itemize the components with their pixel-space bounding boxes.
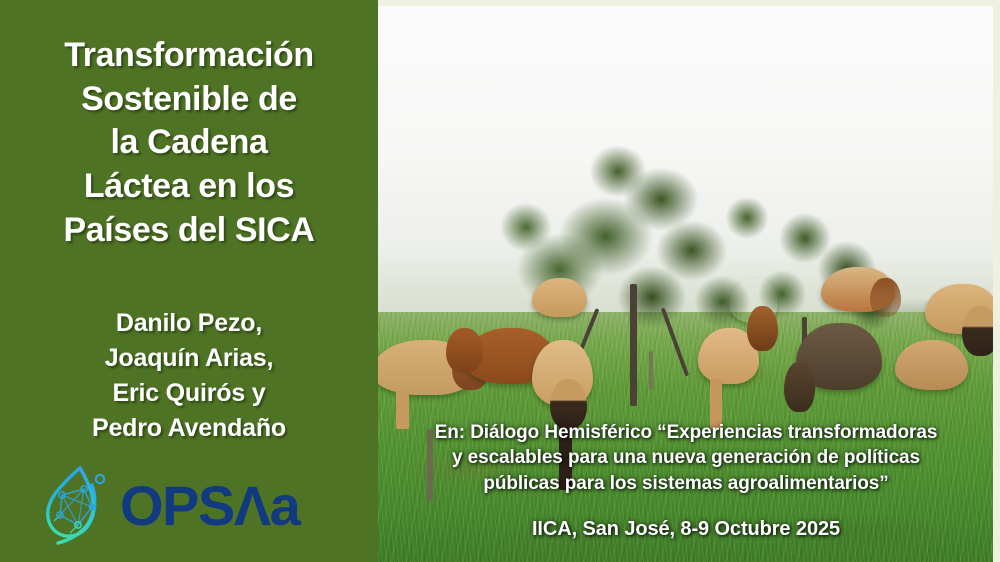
opsaa-logo: OPSΛa: [40, 462, 340, 550]
cow-head: [962, 306, 993, 356]
cow-head: [446, 328, 483, 372]
cow-head: [870, 278, 901, 317]
event-venue-date: IICA, San José, 8-9 Octubre 2025: [386, 518, 986, 541]
opsaa-wordmark: OPSΛa: [120, 478, 299, 534]
cow-head-grazing: [784, 362, 815, 412]
opsaa-leaf-network-icon: [40, 463, 114, 549]
authors-list: Danilo Pezo, Joaquín Arias, Eric Quirós …: [0, 306, 378, 446]
cow-body: [532, 278, 587, 317]
fence-post-far: [649, 351, 653, 390]
cow-body: [895, 340, 969, 390]
photo-top-border: [378, 0, 1000, 6]
page-title: Transformación Sostenible de la Cadena L…: [0, 34, 378, 252]
slide-root: Transformación Sostenible de la Cadena L…: [0, 0, 1000, 562]
left-green-panel: Transformación Sostenible de la Cadena L…: [0, 0, 378, 562]
cow-head: [747, 306, 778, 350]
main-tree-trunk: [630, 284, 637, 406]
photo-right-border: [993, 0, 1000, 562]
event-caption: En: Diálogo Hemisférico “Experiencias tr…: [386, 420, 986, 496]
